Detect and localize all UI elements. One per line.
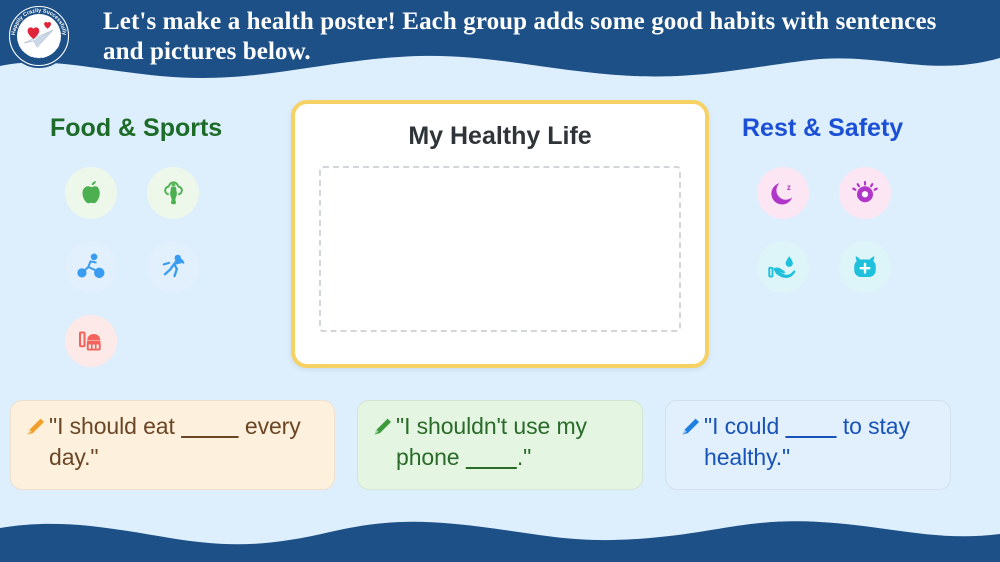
poster-title: My Healthy Life — [295, 122, 705, 151]
page-title: Let's make a health poster! Each group a… — [103, 7, 963, 67]
sentence-card-shouldnt[interactable]: "I shouldn't use my phone ." — [357, 400, 643, 490]
broccoli-icon — [147, 167, 199, 219]
food-sports-heading: Food & Sports — [50, 114, 265, 142]
sleep-moon-icon: z — [757, 167, 809, 219]
pencil-icon — [678, 415, 702, 439]
footer-wave-shape — [0, 498, 1000, 562]
sentence-before: "I should eat — [49, 413, 181, 439]
eye-care-icon — [839, 167, 891, 219]
icon-cell-apple[interactable] — [50, 156, 132, 230]
category-rest-safety: Rest & Safety z — [742, 114, 957, 304]
rest-safety-icon-grid: z — [742, 156, 922, 304]
sentence-card-should[interactable]: "I should eat every day." — [10, 400, 335, 490]
icon-cell-cycling[interactable] — [50, 230, 132, 304]
sentence-text: "I shouldn't use my phone ." — [396, 411, 630, 473]
junk-food-icon — [65, 315, 117, 367]
icon-cell-wash-hands[interactable] — [742, 230, 824, 304]
pencil-icon — [23, 415, 47, 439]
sentence-blank[interactable] — [466, 444, 517, 470]
wash-hands-icon — [757, 241, 809, 293]
category-food-sports: Food & Sports — [50, 114, 265, 378]
first-aid-icon — [839, 241, 891, 293]
cycling-icon — [65, 241, 117, 293]
sentence-text: "I could to stay healthy." — [704, 411, 938, 473]
poster-dropzone[interactable] — [319, 166, 681, 332]
sentence-before: "I could — [704, 413, 785, 439]
sentence-text: "I should eat every day." — [49, 411, 322, 473]
main-content: Food & Sports — [0, 78, 1000, 498]
sentence-card-could[interactable]: "I could to stay healthy." — [665, 400, 951, 490]
sentence-after: ." — [517, 444, 531, 470]
icon-cell-eye-care[interactable] — [824, 156, 906, 230]
poster-card[interactable]: My Healthy Life — [291, 100, 709, 368]
pencil-icon — [370, 415, 394, 439]
food-sports-icon-grid — [50, 156, 230, 378]
slide-canvas: Happily Crazily Successfully 快乐疯狂小种名师工作室… — [0, 0, 1000, 562]
icon-cell-running[interactable] — [132, 230, 214, 304]
apple-icon — [65, 167, 117, 219]
logo-badge: Happily Crazily Successfully 快乐疯狂小种名师工作室 — [6, 3, 72, 69]
sentence-frames-row: "I should eat every day." "I shouldn't u… — [0, 400, 1000, 494]
icon-cell-broccoli[interactable] — [132, 156, 214, 230]
icon-cell-junk-food[interactable] — [50, 304, 132, 378]
icon-cell-sleep[interactable]: z — [742, 156, 824, 230]
running-icon — [147, 241, 199, 293]
footer-wave — [0, 498, 1000, 562]
header-content: Happily Crazily Successfully 快乐疯狂小种名师工作室… — [0, 0, 1000, 78]
sentence-blank[interactable] — [181, 413, 239, 439]
svg-text:z: z — [787, 183, 791, 192]
sentence-blank[interactable] — [785, 413, 836, 439]
icon-cell-first-aid[interactable] — [824, 230, 906, 304]
rest-safety-heading: Rest & Safety — [742, 114, 957, 142]
